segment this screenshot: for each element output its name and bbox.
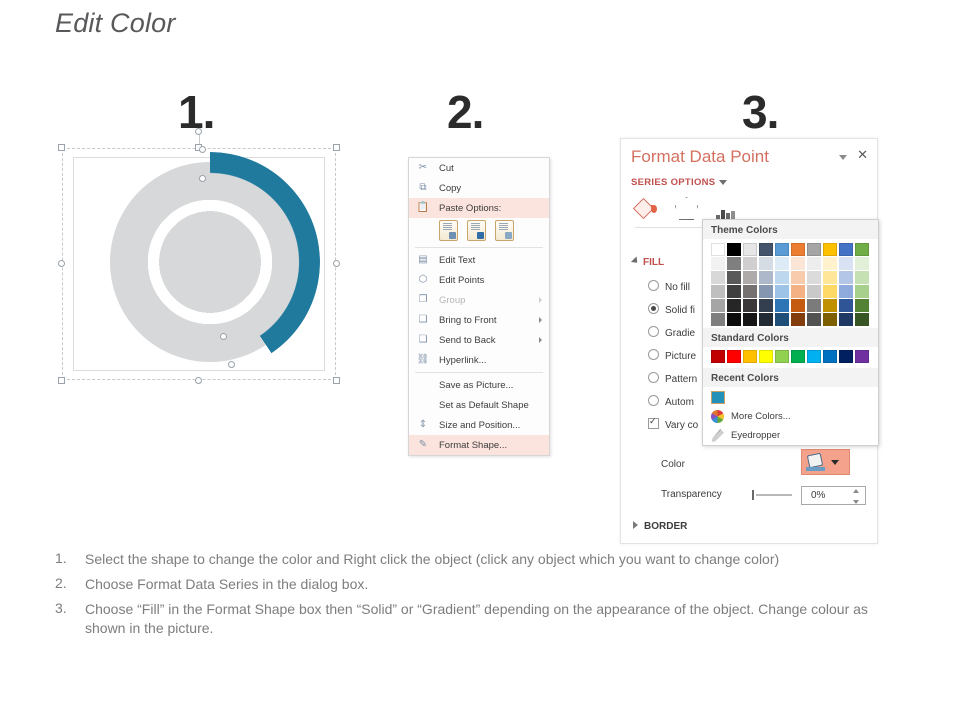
fill-option-label: Gradie xyxy=(665,328,695,339)
color-swatch[interactable] xyxy=(791,243,805,256)
slice-point-handle-2[interactable] xyxy=(199,175,206,182)
fill-bucket-icon[interactable] xyxy=(635,198,657,220)
color-swatch[interactable] xyxy=(775,257,789,270)
chart-options-icon[interactable] xyxy=(716,206,736,220)
pane-title: Format Data Point xyxy=(631,147,769,167)
theme-color-column[interactable] xyxy=(823,243,837,326)
menu-item-bring-to-front[interactable]: ❏ Bring to Front xyxy=(409,310,549,330)
color-swatch[interactable] xyxy=(743,285,757,298)
theme-color-column[interactable] xyxy=(759,243,773,326)
fill-option-solid-fill[interactable]: Solid fi xyxy=(648,303,695,316)
color-swatch[interactable] xyxy=(775,299,789,312)
fill-option-label: Pattern xyxy=(665,374,697,385)
transparency-label: Transparency xyxy=(661,489,722,500)
list-text: Choose “Fill” in the Format Shape box th… xyxy=(85,600,885,638)
list-number: 2. xyxy=(55,575,85,594)
menu-item-label: Cut xyxy=(439,163,454,174)
radio-button[interactable] xyxy=(648,349,659,360)
menu-item-label: Format Shape... xyxy=(439,440,507,451)
color-swatch[interactable] xyxy=(711,285,725,298)
menu-item-edit-points[interactable]: ⬡ Edit Points xyxy=(409,270,549,290)
color-swatch[interactable] xyxy=(855,299,869,312)
submenu-arrow-icon xyxy=(539,317,542,323)
color-swatch[interactable] xyxy=(775,350,789,363)
menu-item-format-shape[interactable]: ✎ Format Shape... xyxy=(409,435,549,455)
color-swatch[interactable] xyxy=(791,285,805,298)
theme-colors-header: Theme Colors xyxy=(703,220,878,239)
color-swatch[interactable] xyxy=(855,243,869,256)
color-picker-dropdown[interactable]: Theme Colors Standard Colors Recent Colo… xyxy=(702,219,879,446)
more-colors-item[interactable]: More Colors... xyxy=(703,407,878,426)
slice-point-handle-3[interactable] xyxy=(220,333,227,340)
slice-point-handle-1[interactable] xyxy=(199,146,206,153)
fill-option-picture[interactable]: Picture xyxy=(648,349,696,362)
copy-icon: ⧉ xyxy=(416,181,430,195)
color-swatch[interactable] xyxy=(759,285,773,298)
resize-handle-nw[interactable] xyxy=(58,144,65,151)
border-section-label: BORDER xyxy=(644,521,687,532)
fill-option-label: Solid fi xyxy=(665,305,695,316)
resize-handle-s[interactable] xyxy=(195,377,202,384)
paste-merge-formatting-icon[interactable] xyxy=(467,220,486,241)
size-position-icon: ⇕ xyxy=(416,418,430,432)
context-menu[interactable]: ✂ Cut ⧉ Copy 📋 Paste Options: ▤ Edit Tex… xyxy=(408,157,550,456)
color-swatch[interactable] xyxy=(743,257,757,270)
fill-option-label: Picture xyxy=(665,351,696,362)
radio-button-selected[interactable] xyxy=(648,303,659,314)
chevron-down-icon[interactable] xyxy=(839,155,847,160)
color-swatch[interactable] xyxy=(823,313,837,326)
color-swatch[interactable] xyxy=(823,243,837,256)
color-wheel-icon xyxy=(711,410,724,423)
color-swatch[interactable] xyxy=(823,285,837,298)
bring-front-icon: ❏ xyxy=(416,313,430,327)
color-swatch[interactable] xyxy=(727,285,741,298)
color-swatch[interactable] xyxy=(727,299,741,312)
resize-handle-se[interactable] xyxy=(333,377,340,384)
color-swatch[interactable] xyxy=(855,285,869,298)
color-swatch[interactable] xyxy=(727,271,741,284)
color-swatch[interactable] xyxy=(711,257,725,270)
radio-button[interactable] xyxy=(648,326,659,337)
theme-colors-grid[interactable] xyxy=(703,239,878,328)
color-swatch[interactable] xyxy=(839,243,853,256)
chevron-down-icon xyxy=(719,180,727,185)
list-text: Select the shape to change the color and… xyxy=(85,550,779,569)
color-swatch[interactable] xyxy=(855,350,869,363)
menu-item-group: ❐ Group xyxy=(409,290,549,310)
color-swatch[interactable] xyxy=(807,243,821,256)
color-swatch[interactable] xyxy=(775,285,789,298)
color-swatch[interactable] xyxy=(743,271,757,284)
list-item: 2. Choose Format Data Series in the dial… xyxy=(55,575,885,594)
donut-chart[interactable] xyxy=(62,148,336,380)
vary-colors-checkbox[interactable]: Vary co xyxy=(648,418,698,431)
shape-effects-icon[interactable] xyxy=(675,197,698,220)
menu-item-set-as-default-shape[interactable]: Set as Default Shape xyxy=(409,395,549,415)
theme-color-column[interactable] xyxy=(855,243,869,326)
edit-text-icon: ▤ xyxy=(416,253,430,267)
color-swatch[interactable] xyxy=(855,271,869,284)
color-swatch[interactable] xyxy=(711,350,725,363)
color-swatch[interactable] xyxy=(807,271,821,284)
color-swatch[interactable] xyxy=(759,299,773,312)
color-swatch[interactable] xyxy=(759,243,773,256)
send-back-icon: ❏ xyxy=(416,333,430,347)
color-fill-button[interactable] xyxy=(801,449,850,475)
vary-colors-label: Vary co xyxy=(665,420,698,431)
menu-item-cut[interactable]: ✂ Cut xyxy=(409,158,549,178)
radio-button[interactable] xyxy=(648,280,659,291)
transparency-value: 0% xyxy=(811,490,825,501)
step-number-3: 3. xyxy=(742,85,778,139)
color-swatch[interactable] xyxy=(775,243,789,256)
color-swatch[interactable] xyxy=(823,271,837,284)
resize-handle-w[interactable] xyxy=(58,260,65,267)
paste-options-row[interactable] xyxy=(409,218,549,245)
menu-item-label: Send to Back xyxy=(439,335,496,346)
submenu-arrow-icon xyxy=(539,337,542,343)
color-swatch[interactable] xyxy=(839,271,853,284)
collapse-triangle-icon xyxy=(633,521,638,529)
menu-item-label: Set as Default Shape xyxy=(439,400,529,411)
rotation-handle[interactable] xyxy=(195,128,202,135)
scissors-icon: ✂ xyxy=(416,161,430,175)
color-swatch[interactable] xyxy=(759,313,773,326)
group-icon: ❐ xyxy=(416,293,430,307)
close-icon[interactable]: ✕ xyxy=(857,148,868,161)
format-shape-icon: ✎ xyxy=(416,438,430,452)
color-swatch[interactable] xyxy=(759,257,773,270)
spinner-arrows-icon[interactable] xyxy=(853,489,860,504)
theme-color-column[interactable] xyxy=(775,243,789,326)
color-swatch[interactable] xyxy=(823,257,837,270)
checkbox-checked[interactable] xyxy=(648,418,659,429)
eyedropper-item[interactable]: Eyedropper xyxy=(703,426,878,445)
fill-option-no-fill[interactable]: No fill xyxy=(648,280,690,293)
color-swatch[interactable] xyxy=(839,257,853,270)
paste-keep-formatting-icon[interactable] xyxy=(439,220,458,241)
color-swatch[interactable] xyxy=(807,285,821,298)
color-swatch[interactable] xyxy=(711,299,725,312)
menu-item-label: Group xyxy=(439,295,465,306)
menu-item-label: Edit Points xyxy=(439,275,484,286)
fill-section-label: FILL xyxy=(643,257,664,268)
color-swatch[interactable] xyxy=(743,350,757,363)
fill-bucket-icon xyxy=(805,454,827,471)
color-swatch[interactable] xyxy=(839,350,853,363)
color-swatch[interactable] xyxy=(807,350,821,363)
theme-color-column[interactable] xyxy=(807,243,821,326)
theme-color-column[interactable] xyxy=(711,243,725,326)
edit-points-icon: ⬡ xyxy=(416,273,430,287)
color-swatch[interactable] xyxy=(807,257,821,270)
color-label: Color xyxy=(661,459,685,470)
recent-colors-row[interactable] xyxy=(703,387,878,407)
color-swatch[interactable] xyxy=(823,350,837,363)
standard-colors-row[interactable] xyxy=(703,347,878,368)
transparency-slider[interactable] xyxy=(756,494,792,496)
list-number: 3. xyxy=(55,600,85,638)
radio-button[interactable] xyxy=(648,372,659,383)
menu-separator xyxy=(415,372,543,373)
donut-selected-slice[interactable] xyxy=(100,152,320,372)
color-swatch[interactable] xyxy=(743,299,757,312)
theme-color-column[interactable] xyxy=(727,243,741,326)
color-swatch[interactable] xyxy=(759,350,773,363)
fill-option-label: No fill xyxy=(665,282,690,293)
menu-item-label: Size and Position... xyxy=(439,420,520,431)
color-swatch[interactable] xyxy=(855,313,869,326)
color-swatch[interactable] xyxy=(791,257,805,270)
color-swatch[interactable] xyxy=(727,257,741,270)
color-swatch[interactable] xyxy=(839,285,853,298)
theme-color-column[interactable] xyxy=(839,243,853,326)
instructions-list: 1. Select the shape to change the color … xyxy=(55,550,885,644)
theme-color-column[interactable] xyxy=(791,243,805,326)
color-swatch[interactable] xyxy=(839,299,853,312)
color-swatch[interactable] xyxy=(743,243,757,256)
fill-section-header[interactable]: FILL xyxy=(633,257,664,268)
color-swatch[interactable] xyxy=(791,299,805,312)
color-swatch[interactable] xyxy=(743,313,757,326)
menu-item-label: Save as Picture... xyxy=(439,380,513,391)
menu-item-save-as-picture[interactable]: Save as Picture... xyxy=(409,375,549,395)
color-swatch[interactable] xyxy=(727,350,741,363)
clipboard-icon: 📋 xyxy=(416,201,430,215)
color-swatch[interactable] xyxy=(711,243,725,256)
color-swatch[interactable] xyxy=(823,299,837,312)
radio-button[interactable] xyxy=(648,395,659,406)
slide-canvas: Edit Color 1. 2. 3. ✂ Cut ⧉ C xyxy=(0,0,960,720)
series-options-dropdown[interactable]: SERIES OPTIONS xyxy=(631,177,727,188)
fill-option-automatic[interactable]: Autom xyxy=(648,395,694,408)
slice-point-handle-4[interactable] xyxy=(228,361,235,368)
color-swatch[interactable] xyxy=(759,271,773,284)
hyperlink-icon: ⛓ xyxy=(416,353,430,367)
menu-item-paste-options[interactable]: 📋 Paste Options: xyxy=(409,198,549,218)
eyedropper-label: Eyedropper xyxy=(731,430,780,441)
color-swatch[interactable] xyxy=(775,313,789,326)
color-swatch[interactable] xyxy=(727,313,741,326)
menu-separator xyxy=(415,247,543,248)
menu-item-label: Copy xyxy=(439,183,461,194)
color-swatch[interactable] xyxy=(791,271,805,284)
menu-item-label: Paste Options: xyxy=(439,203,501,214)
step-number-2: 2. xyxy=(447,85,483,139)
page-title: Edit Color xyxy=(55,8,176,39)
menu-item-label: Edit Text xyxy=(439,255,475,266)
fill-option-label: Autom xyxy=(665,397,694,408)
menu-item-size-and-position[interactable]: ⇕ Size and Position... xyxy=(409,415,549,435)
chevron-down-icon[interactable] xyxy=(831,460,839,465)
menu-item-send-to-back[interactable]: ❏ Send to Back xyxy=(409,330,549,350)
color-swatch[interactable] xyxy=(791,350,805,363)
color-swatch[interactable] xyxy=(727,243,741,256)
menu-item-edit-text[interactable]: ▤ Edit Text xyxy=(409,250,549,270)
fill-option-pattern[interactable]: Pattern xyxy=(648,372,697,385)
color-swatch[interactable] xyxy=(711,313,725,326)
color-swatch[interactable] xyxy=(839,313,853,326)
border-section-header[interactable]: BORDER xyxy=(633,521,687,532)
color-swatch[interactable] xyxy=(807,313,821,326)
resize-handle-ne[interactable] xyxy=(333,144,340,151)
color-swatch[interactable] xyxy=(775,271,789,284)
color-swatch[interactable] xyxy=(711,271,725,284)
resize-handle-e[interactable] xyxy=(333,260,340,267)
color-swatch[interactable] xyxy=(855,257,869,270)
fill-option-gradient[interactable]: Gradie xyxy=(648,326,695,339)
list-number: 1. xyxy=(55,550,85,569)
color-swatch[interactable] xyxy=(791,313,805,326)
list-item: 3. Choose “Fill” in the Format Shape box… xyxy=(55,600,885,638)
more-colors-label: More Colors... xyxy=(731,411,791,422)
series-options-label: SERIES OPTIONS xyxy=(631,177,715,188)
list-text: Choose Format Data Series in the dialog … xyxy=(85,575,368,594)
expand-triangle-icon xyxy=(631,256,640,265)
recent-colors-header: Recent Colors xyxy=(703,368,878,387)
theme-color-column[interactable] xyxy=(743,243,757,326)
list-item: 1. Select the shape to change the color … xyxy=(55,550,885,569)
transparency-input[interactable]: 0% xyxy=(801,486,866,505)
recent-color-swatch[interactable] xyxy=(711,391,725,404)
menu-item-hyperlink[interactable]: ⛓ Hyperlink... xyxy=(409,350,549,370)
menu-item-copy[interactable]: ⧉ Copy xyxy=(409,178,549,198)
menu-item-label: Hyperlink... xyxy=(439,355,487,366)
color-swatch[interactable] xyxy=(807,299,821,312)
standard-colors-header: Standard Colors xyxy=(703,328,878,347)
shape-selection-panel[interactable] xyxy=(62,148,336,380)
pane-icon-tabs[interactable] xyxy=(635,197,736,220)
resize-handle-sw[interactable] xyxy=(58,377,65,384)
submenu-arrow-icon xyxy=(539,297,542,303)
menu-item-label: Bring to Front xyxy=(439,315,497,326)
paste-picture-icon[interactable] xyxy=(495,220,514,241)
eyedropper-icon xyxy=(711,429,724,442)
